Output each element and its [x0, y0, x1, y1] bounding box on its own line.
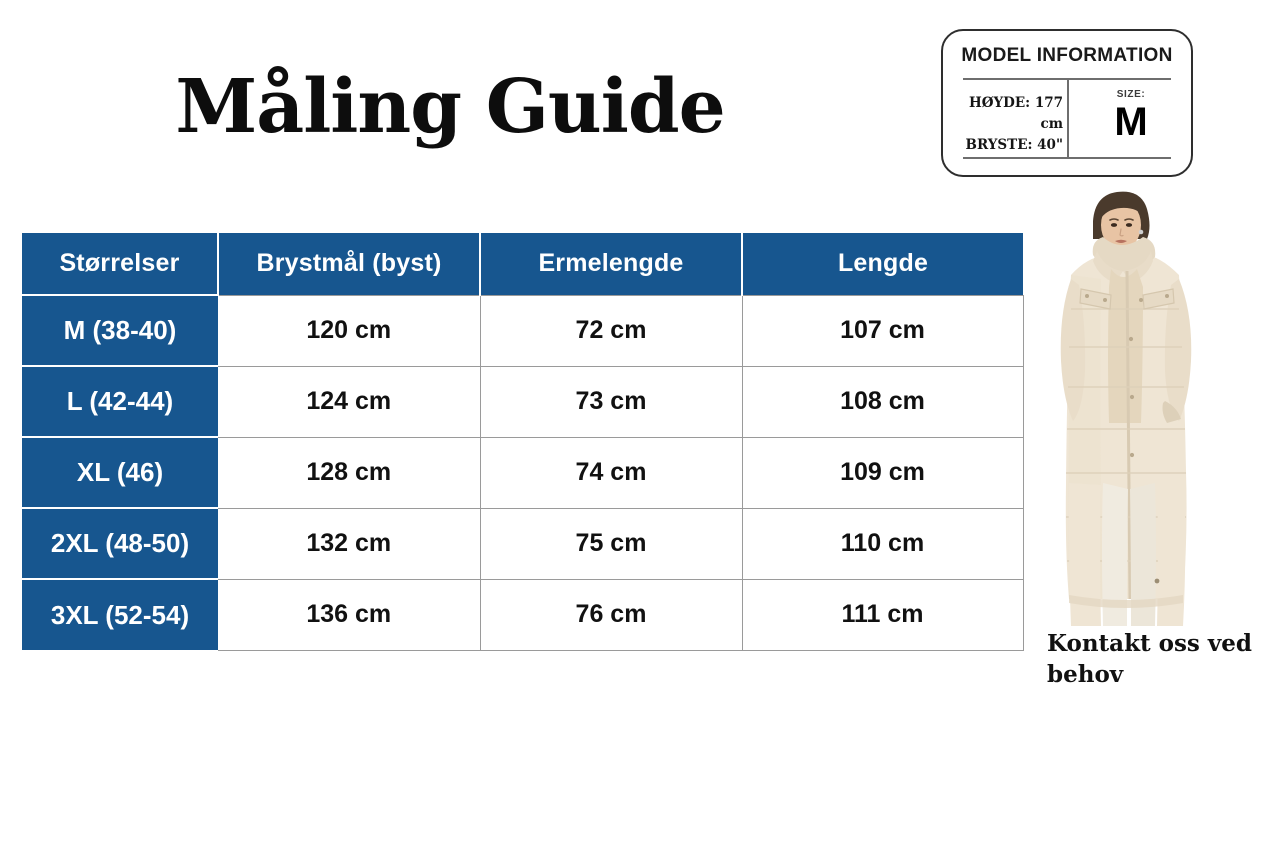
- cell-sleeve: 76 cm: [480, 579, 742, 650]
- cell-length: 109 cm: [742, 437, 1023, 508]
- page-title: Måling Guide: [0, 70, 900, 144]
- cell-size: M (38-40): [22, 295, 218, 366]
- cell-sleeve: 75 cm: [480, 508, 742, 579]
- table-row: L (42-44) 124 cm 73 cm 108 cm: [22, 366, 1023, 437]
- cell-length: 107 cm: [742, 295, 1023, 366]
- model-info-divider-bottom: [963, 157, 1171, 159]
- cell-chest: 128 cm: [218, 437, 480, 508]
- cell-chest: 120 cm: [218, 295, 480, 366]
- model-information-heading: MODEL INFORMATION: [943, 45, 1191, 67]
- model-chest: BRYSTE: 40": [951, 135, 1063, 156]
- model-height: HØYDE: 177 cm: [951, 93, 1063, 135]
- column-header-sizes: Størrelser: [22, 233, 218, 295]
- model-size-block: SIZE: M: [1069, 89, 1193, 142]
- model-size-label: SIZE:: [1069, 89, 1193, 100]
- model-size-value: M: [1069, 102, 1193, 142]
- model-photo: [1031, 183, 1227, 626]
- table-row: M (38-40) 120 cm 72 cm 107 cm: [22, 295, 1023, 366]
- model-measurements: HØYDE: 177 cm BRYSTE: 40": [951, 93, 1063, 156]
- size-chart-table: Størrelser Brystmål (byst) Ermelengde Le…: [22, 233, 1024, 651]
- table-header-row: Størrelser Brystmål (byst) Ermelengde Le…: [22, 233, 1023, 295]
- cell-size: 3XL (52-54): [22, 579, 218, 650]
- cell-chest: 136 cm: [218, 579, 480, 650]
- model-information-card: MODEL INFORMATION HØYDE: 177 cm BRYSTE: …: [941, 29, 1193, 177]
- column-header-sleeve: Ermelengde: [480, 233, 742, 295]
- cell-length: 110 cm: [742, 508, 1023, 579]
- table-row: 2XL (48-50) 132 cm 75 cm 110 cm: [22, 508, 1023, 579]
- column-header-chest: Brystmål (byst): [218, 233, 480, 295]
- cell-size: 2XL (48-50): [22, 508, 218, 579]
- cell-sleeve: 72 cm: [480, 295, 742, 366]
- cell-chest: 132 cm: [218, 508, 480, 579]
- photo-caption: Kontakt oss ved behov: [1047, 628, 1263, 690]
- cell-length: 111 cm: [742, 579, 1023, 650]
- column-header-length: Lengde: [742, 233, 1023, 295]
- cell-size: L (42-44): [22, 366, 218, 437]
- cell-sleeve: 74 cm: [480, 437, 742, 508]
- cell-chest: 124 cm: [218, 366, 480, 437]
- cell-length: 108 cm: [742, 366, 1023, 437]
- cell-size: XL (46): [22, 437, 218, 508]
- table-row: 3XL (52-54) 136 cm 76 cm 111 cm: [22, 579, 1023, 650]
- table-row: XL (46) 128 cm 74 cm 109 cm: [22, 437, 1023, 508]
- cell-sleeve: 73 cm: [480, 366, 742, 437]
